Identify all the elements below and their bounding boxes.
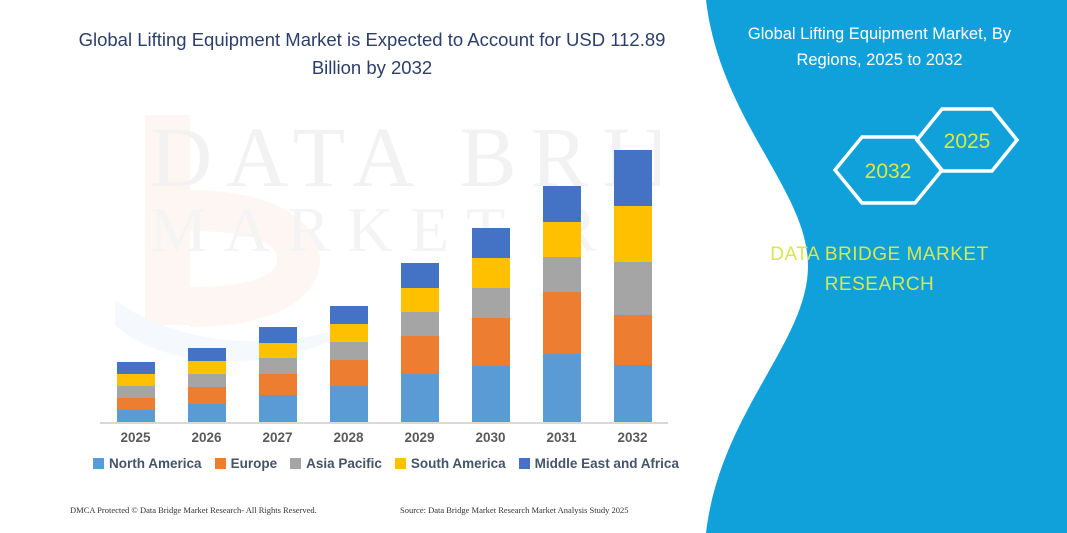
legend-item: Middle East and Africa [519, 456, 679, 471]
hexagon-2025-label: 2025 [944, 130, 991, 153]
bar-segment [401, 288, 439, 312]
bar-segment [188, 348, 226, 361]
bar-segment [401, 374, 439, 422]
bar-segment [401, 312, 439, 336]
bar-segment [330, 360, 368, 386]
legend-item: Europe [215, 456, 278, 471]
bar-segment [259, 358, 297, 374]
x-axis-label-2028: 2028 [316, 430, 382, 445]
page-title: Global Lifting Equipment Market is Expec… [62, 26, 682, 82]
chart-legend: North AmericaEuropeAsia PacificSouth Ame… [100, 456, 672, 471]
bar-segment [614, 315, 652, 365]
brand-line-2: RESEARCH [825, 274, 935, 295]
bar-segment [330, 342, 368, 360]
bar-segment [472, 366, 510, 422]
bar-segment [543, 354, 581, 422]
bar-segment [117, 386, 155, 398]
bar-column-2026 [174, 115, 240, 422]
bar-segment [259, 374, 297, 395]
bar-segment [401, 336, 439, 374]
stacked-bar-chart [100, 115, 668, 422]
bar-segment [188, 361, 226, 374]
x-axis-label-2026: 2026 [174, 430, 240, 445]
legend-swatch-icon [215, 458, 226, 469]
bar-segment [330, 306, 368, 324]
bar-segment [117, 398, 155, 410]
infographic-root: DATA BRIDGE MARKET RESEARCH Global Lifti… [0, 0, 1067, 533]
bar-segment [401, 263, 439, 288]
bar-segment [117, 410, 155, 422]
footer-source: Source: Data Bridge Market Research Mark… [400, 505, 629, 515]
bar-segment [188, 374, 226, 387]
brand-line-1: DATA BRIDGE MARKET [770, 244, 988, 265]
legend-label: Middle East and Africa [535, 456, 679, 471]
legend-item: Asia Pacific [290, 456, 382, 471]
footer-copyright: DMCA Protected © Data Bridge Market Rese… [70, 505, 317, 515]
bar-segment [330, 324, 368, 342]
bar-column-2032 [600, 115, 666, 422]
bar-segment [259, 395, 297, 422]
bar-column-2030 [458, 115, 524, 422]
panel-content: Global Lifting Equipment Market, By Regi… [687, 0, 1067, 533]
bar-segment [472, 228, 510, 258]
hexagon-badges: 2025 2032 [687, 95, 1067, 215]
legend-swatch-icon [290, 458, 301, 469]
bar-segment [330, 386, 368, 422]
bar-segment [543, 186, 581, 222]
bar-column-2031 [529, 115, 595, 422]
bar-segment [259, 343, 297, 358]
legend-label: Europe [231, 456, 278, 471]
legend-swatch-icon [519, 458, 530, 469]
x-axis-labels: 20252026202720282029203020312032 [100, 430, 668, 445]
panel-title: Global Lifting Equipment Market, By Regi… [717, 22, 1042, 73]
bar-column-2028 [316, 115, 382, 422]
legend-item: South America [395, 456, 506, 471]
bar-segment [614, 262, 652, 315]
bar-segment [614, 206, 652, 262]
bar-column-2025 [103, 115, 169, 422]
bar-column-2029 [387, 115, 453, 422]
hexagon-2032-label: 2032 [865, 160, 912, 183]
x-axis-label-2029: 2029 [387, 430, 453, 445]
legend-swatch-icon [395, 458, 406, 469]
bar-segment [472, 318, 510, 366]
bar-segment [543, 222, 581, 257]
bar-segment [117, 374, 155, 386]
bar-segment [543, 257, 581, 292]
bar-segment [614, 150, 652, 206]
bar-column-2027 [245, 115, 311, 422]
bar-segment [614, 365, 652, 422]
legend-label: North America [109, 456, 202, 471]
x-axis-line [100, 422, 668, 424]
x-axis-label-2032: 2032 [600, 430, 666, 445]
x-axis-label-2027: 2027 [245, 430, 311, 445]
bar-segment [117, 362, 155, 374]
bar-segment [543, 292, 581, 354]
legend-label: Asia Pacific [306, 456, 382, 471]
legend-label: South America [411, 456, 506, 471]
bar-segment [472, 288, 510, 318]
bar-segment [472, 258, 510, 288]
bar-segment [259, 327, 297, 343]
legend-item: North America [93, 456, 202, 471]
legend-swatch-icon [93, 458, 104, 469]
brand-wordmark: DATA BRIDGE MARKET RESEARCH [717, 240, 1042, 301]
bar-segment [188, 404, 226, 422]
x-axis-label-2030: 2030 [458, 430, 524, 445]
bar-segment [188, 387, 226, 404]
x-axis-label-2031: 2031 [529, 430, 595, 445]
x-axis-label-2025: 2025 [103, 430, 169, 445]
chart-pane: Global Lifting Equipment Market is Expec… [0, 0, 700, 533]
